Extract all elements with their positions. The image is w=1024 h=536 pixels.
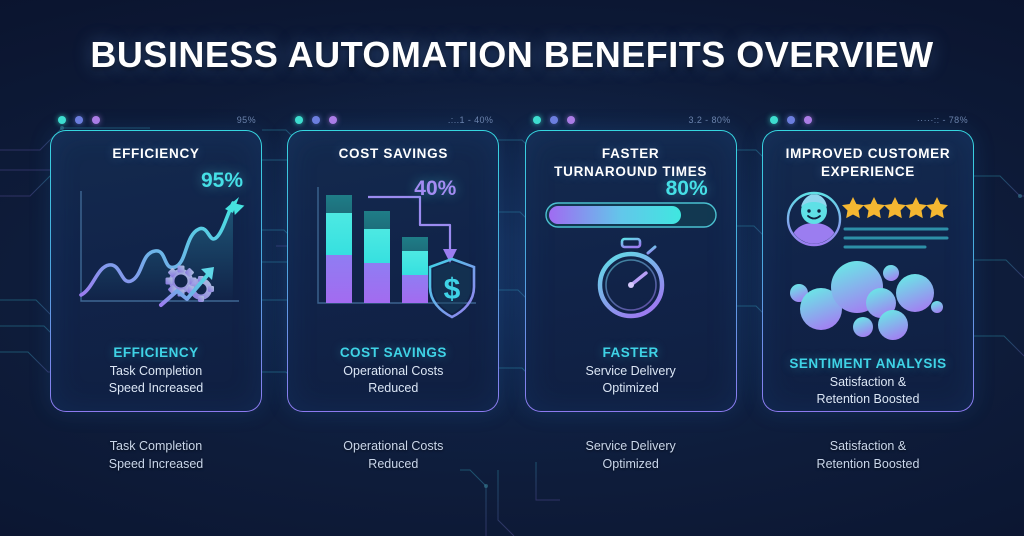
foot-sub-line1: Service Delivery <box>538 363 724 380</box>
efficiency-metric-value: 95% <box>201 169 243 193</box>
dot-purple-icon <box>92 116 100 124</box>
window-dots <box>295 116 337 124</box>
foot-sub-line2: Optimized <box>538 380 724 397</box>
caption-line1: Satisfaction & <box>762 438 974 456</box>
dot-blue-icon <box>550 116 558 124</box>
caption-line2: Speed Increased <box>50 456 262 474</box>
card-chip-label: 3.2 - 80% <box>689 115 731 125</box>
card-foot-faster: FASTER Service Delivery Optimized <box>538 345 724 399</box>
sentiment-bubble-cloud <box>790 261 943 340</box>
foot-sub-cost-savings: Operational Costs Reduced <box>300 363 486 397</box>
dot-cyan-icon <box>295 116 303 124</box>
bottom-captions-row: Task Completion Speed Increased Operatio… <box>50 438 974 474</box>
stopwatch-icon <box>600 239 662 316</box>
star-rating-icons <box>842 197 948 218</box>
card-title-cost-savings: COST SAVINGS <box>339 145 448 163</box>
foot-sub-line1: Operational Costs <box>300 363 486 380</box>
caption-customer: Satisfaction & Retention Boosted <box>762 438 974 474</box>
card-foot-cost-savings: COST SAVINGS Operational Costs Reduced <box>300 345 486 399</box>
card-title-line2: EXPERIENCE <box>786 163 951 181</box>
viz-progress-stopwatch: 80% <box>538 181 724 345</box>
card-chrome-cost-savings: .:..1 - 40% <box>287 110 499 130</box>
foot-label-efficiency: EFFICIENCY <box>63 345 249 360</box>
faster-progress-svg <box>538 181 726 337</box>
card-title-line1: IMPROVED CUSTOMER <box>786 145 951 163</box>
foot-sub-customer: Satisfaction & Retention Boosted <box>775 374 961 408</box>
foot-sub-line1: Task Completion <box>63 363 249 380</box>
card-body-efficiency: EFFICIENCY <box>50 130 262 412</box>
caption-line1: Operational Costs <box>287 438 499 456</box>
customer-sentiment-svg <box>775 181 963 351</box>
caption-line1: Task Completion <box>50 438 262 456</box>
review-lines <box>845 229 947 247</box>
cards-row: 95% EFFICIENCY <box>50 110 974 430</box>
foot-sub-line2: Reduced <box>300 380 486 397</box>
caption-cost-savings: Operational Costs Reduced <box>287 438 499 474</box>
card-chrome-efficiency: 95% <box>50 110 262 130</box>
card-faster-turnaround[interactable]: 3.2 - 80% FASTER TURNAROUND TIMES <box>525 110 737 430</box>
foot-sub-line2: Retention Boosted <box>775 391 961 408</box>
card-title-customer: IMPROVED CUSTOMER EXPERIENCE <box>786 145 951 181</box>
viz-bar-chart: $ 40% <box>300 163 486 345</box>
window-dots <box>58 116 100 124</box>
viz-avatar-bubbles <box>775 181 961 356</box>
card-chip-label: .:..1 - 40% <box>448 115 493 125</box>
dot-blue-icon <box>787 116 795 124</box>
dot-cyan-icon <box>533 116 541 124</box>
dot-blue-icon <box>312 116 320 124</box>
card-customer-experience[interactable]: ·····:: - 78% IMPROVED CUSTOMER EXPERIEN… <box>762 110 974 430</box>
caption-line2: Reduced <box>287 456 499 474</box>
page-title: BUSINESS AUTOMATION BENEFITS OVERVIEW <box>0 34 1024 76</box>
foot-label-customer: SENTIMENT ANALYSIS <box>775 356 961 371</box>
cost-savings-bar-chart-svg: $ <box>300 163 488 333</box>
card-body-cost-savings: COST SAVINGS <box>287 130 499 412</box>
card-title-faster: FASTER TURNAROUND TIMES <box>554 145 707 181</box>
card-body-faster: FASTER TURNAROUND TIMES <box>525 130 737 412</box>
foot-label-faster: FASTER <box>538 345 724 360</box>
foot-sub-faster: Service Delivery Optimized <box>538 363 724 397</box>
foot-sub-line2: Speed Increased <box>63 380 249 397</box>
card-chrome-customer: ·····:: - 78% <box>762 110 974 130</box>
cost-savings-metric-value: 40% <box>414 177 456 201</box>
shield-dollar-icon: $ <box>430 259 474 317</box>
card-chrome-faster: 3.2 - 80% <box>525 110 737 130</box>
caption-line1: Service Delivery <box>525 438 737 456</box>
caption-line2: Optimized <box>525 456 737 474</box>
caption-faster: Service Delivery Optimized <box>525 438 737 474</box>
card-title-efficiency: EFFICIENCY <box>112 145 199 163</box>
card-body-customer: IMPROVED CUSTOMER EXPERIENCE <box>762 130 974 412</box>
faster-metric-value: 80% <box>666 177 708 201</box>
card-chip-label: ·····:: - 78% <box>917 115 968 125</box>
window-dots <box>770 116 812 124</box>
card-title-line1: FASTER <box>554 145 707 163</box>
dot-cyan-icon <box>770 116 778 124</box>
dot-blue-icon <box>75 116 83 124</box>
window-dots <box>533 116 575 124</box>
dot-purple-icon <box>329 116 337 124</box>
viz-line-chart: 95% <box>63 163 249 345</box>
caption-efficiency: Task Completion Speed Increased <box>50 438 262 474</box>
caption-line2: Retention Boosted <box>762 456 974 474</box>
customer-avatar-icon <box>788 193 840 247</box>
dot-purple-icon <box>567 116 575 124</box>
card-efficiency[interactable]: 95% EFFICIENCY <box>50 110 262 430</box>
card-foot-customer: SENTIMENT ANALYSIS Satisfaction & Retent… <box>775 356 961 410</box>
dot-purple-icon <box>804 116 812 124</box>
card-cost-savings[interactable]: .:..1 - 40% COST SAVINGS <box>287 110 499 430</box>
card-chip-label: 95% <box>237 115 256 125</box>
foot-sub-line1: Satisfaction & <box>775 374 961 391</box>
foot-label-cost-savings: COST SAVINGS <box>300 345 486 360</box>
svg-text:$: $ <box>444 273 461 306</box>
foot-sub-efficiency: Task Completion Speed Increased <box>63 363 249 397</box>
infographic-canvas: BUSINESS AUTOMATION BENEFITS OVERVIEW 95… <box>0 0 1024 536</box>
dot-cyan-icon <box>58 116 66 124</box>
card-foot-efficiency: EFFICIENCY Task Completion Speed Increas… <box>63 345 249 399</box>
